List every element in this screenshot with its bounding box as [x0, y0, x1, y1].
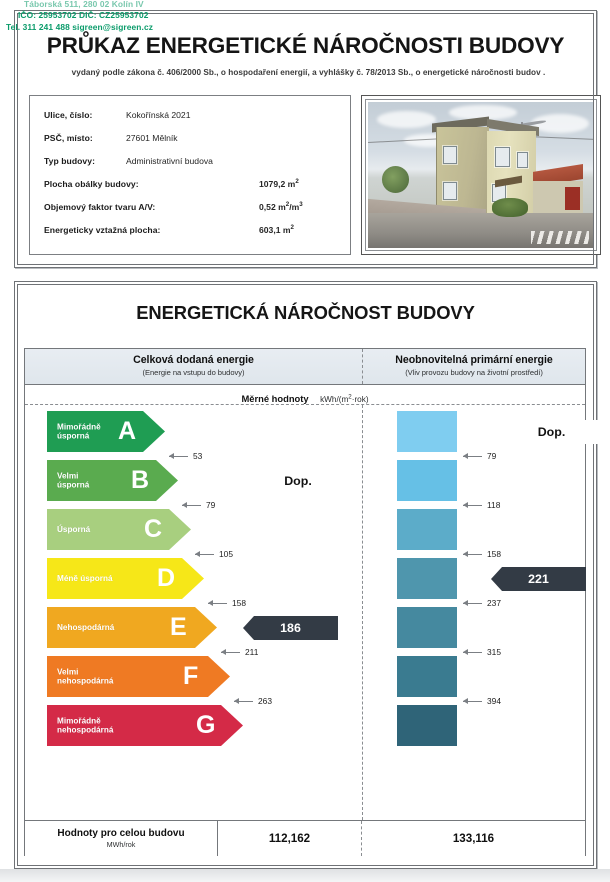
energy-class-label: Mimořádně úsporná: [57, 422, 101, 441]
totals-label: Hodnoty pro celou budovu: [57, 828, 184, 839]
value-badge-primary-text: 221: [528, 572, 549, 586]
building-info-table: Ulice, číslo:Kokořínská 2021PSČ, místo:2…: [29, 95, 351, 255]
energy-class-letter: E: [170, 615, 187, 640]
energy-class-f: Velmi nehospodárnáF: [47, 656, 230, 697]
energy-class-e: NehospodárnáE: [47, 607, 217, 648]
building-info-row: PSČ, místo:27601 Mělník: [44, 133, 93, 147]
class-threshold-value: 263: [258, 696, 272, 706]
building-info-value: 0,52 m2/m3: [259, 202, 303, 212]
column-title: Neobnovitelná primární energie: [363, 354, 585, 366]
page-bottom-edge: [0, 869, 610, 882]
totals-primary-cell: 133,116: [362, 821, 585, 856]
arrow-left-icon: [463, 652, 482, 653]
primary-energy-block-6: [397, 656, 457, 697]
class-threshold-value: 79: [206, 500, 215, 510]
units-label: Měrné hodnoty: [241, 393, 308, 404]
block-threshold-value: 118: [487, 500, 500, 510]
whole-building-totals-row: Hodnoty pro celou budovu MWh/rok 112,162…: [25, 820, 585, 856]
building-info-row: Energeticky vztažná plocha:603,1 m2: [44, 225, 160, 239]
building-info-label: PSČ, místo:: [44, 133, 93, 143]
class-threshold-a: 53: [169, 450, 202, 462]
energy-class-a: Mimořádně úspornáA: [47, 411, 165, 452]
class-threshold-value: 211: [245, 647, 258, 657]
recommended-badge-primary-text: Dop.: [538, 425, 566, 439]
totals-delivered-cell: 112,162: [218, 821, 362, 856]
energy-class-c: ÚspornáC: [47, 509, 191, 550]
totals-unit: MWh/rok: [107, 840, 136, 849]
column-subtitle: (Energie na vstupu do budovy): [25, 368, 362, 377]
building-photo: [368, 102, 594, 248]
block-threshold-value: 158: [487, 549, 501, 559]
value-badge-delivered: 186: [243, 616, 338, 640]
energy-class-label: Méně úsporná: [57, 574, 113, 584]
energy-class-label: Mimořádně nehospodárná: [57, 716, 113, 735]
building-info-label: Energeticky vztažná plocha:: [44, 225, 160, 235]
value-badge-primary: 221: [491, 567, 586, 591]
page-title: PRŮKAZ ENERGETICKÉ NÁROČNOSTI BUDOVY: [15, 33, 596, 59]
class-threshold-f: 263: [234, 695, 272, 707]
building-info-value: 603,1 m2: [259, 225, 294, 235]
energy-class-letter: D: [157, 566, 175, 591]
building-info-value: 27601 Mělník: [126, 133, 178, 143]
arrow-left-icon: [463, 701, 482, 702]
column-header-primary-energy: Neobnovitelná primární energie (Vliv pro…: [362, 349, 585, 384]
totals-primary-value: 133,116: [453, 832, 494, 845]
building-info-value: Administrativní budova: [126, 156, 213, 166]
column-title: Celková dodaná energie: [25, 354, 362, 366]
energy-class-letter: B: [131, 468, 149, 493]
energy-class-label: Velmi úsporná: [57, 471, 89, 490]
class-threshold-d: 158: [208, 597, 246, 609]
energy-scale-table: Celková dodaná energie (Energie na vstup…: [24, 348, 586, 856]
section-title: ENERGETICKÁ NÁROČNOST BUDOVY: [14, 302, 597, 324]
units-row: Měrné hodnoty kWh/(m2·rok): [25, 385, 585, 405]
block-threshold-2: 118: [463, 499, 500, 511]
stamp-address: Táborská 511, 280 02 Kolín IV: [24, 0, 256, 10]
class-threshold-value: 105: [219, 549, 233, 559]
arrow-left-icon: [195, 554, 214, 555]
page-subtitle: vydaný podle zákona č. 406/2000 Sb., o h…: [31, 68, 586, 77]
recommended-badge-delivered-text: Dop.: [284, 474, 312, 488]
arrow-left-icon: [463, 554, 482, 555]
energy-class-b: Velmi úspornáB: [47, 460, 178, 501]
class-threshold-value: 53: [193, 451, 202, 461]
block-threshold-value: 237: [487, 598, 501, 608]
energy-columns-header: Celková dodaná energie (Energie na vstup…: [25, 349, 585, 385]
energy-class-letter: A: [118, 419, 136, 444]
arrow-left-icon: [234, 701, 253, 702]
building-info-label: Plocha obálky budovy:: [44, 179, 139, 189]
energy-class-g: Mimořádně nehospodárnáG: [47, 705, 243, 746]
column-subtitle: (Vliv provozu budovy na životní prostřed…: [363, 368, 585, 377]
building-photo-frame: [361, 95, 601, 255]
energy-class-letter: F: [183, 664, 198, 689]
arrow-left-icon: [208, 603, 227, 604]
building-info-row: Objemový faktor tvaru A/V:0,52 m2/m3: [44, 202, 155, 216]
column-divider: [362, 405, 363, 820]
primary-energy-block-2: [397, 460, 457, 501]
energy-class-label: Nehospodárná: [57, 623, 114, 633]
energy-scale-chart: Mimořádně úspornáA53Velmi úspornáB79Úspo…: [25, 405, 585, 820]
building-info-row: Typ budovy:Administrativní budova: [44, 156, 95, 170]
block-threshold-5: 315: [463, 646, 501, 658]
totals-delivered-value: 112,162: [269, 832, 310, 845]
primary-energy-block-3: [397, 509, 457, 550]
primary-energy-block-1: [397, 411, 457, 452]
primary-energy-block-5: [397, 607, 457, 648]
building-info-row: Ulice, číslo:Kokořínská 2021: [44, 110, 92, 124]
column-header-delivered-energy: Celková dodaná energie (Energie na vstup…: [25, 349, 362, 384]
energy-class-letter: G: [196, 713, 215, 738]
building-info-row: Plocha obálky budovy:1079,2 m2: [44, 179, 139, 193]
block-threshold-value: 315: [487, 647, 501, 657]
arrow-left-icon: [463, 603, 482, 604]
energy-class-letter: C: [144, 517, 162, 542]
class-threshold-c: 105: [195, 548, 233, 560]
class-threshold-value: 158: [232, 598, 246, 608]
class-threshold-e: 211: [221, 646, 258, 658]
block-threshold-6: 394: [463, 695, 501, 707]
block-threshold-value: 394: [487, 696, 501, 706]
block-threshold-4: 237: [463, 597, 501, 609]
building-info-value: 1079,2 m2: [259, 179, 299, 189]
class-threshold-b: 79: [182, 499, 215, 511]
arrow-left-icon: [463, 456, 482, 457]
energy-class-label: Velmi nehospodárná: [57, 667, 113, 686]
certificate-header-panel: PRŮKAZ ENERGETICKÉ NÁROČNOSTI BUDOVY vyd…: [14, 10, 597, 268]
arrow-left-icon: [182, 505, 201, 506]
block-threshold-1: 79: [463, 450, 496, 462]
arrow-left-icon: [169, 456, 188, 457]
recommended-badge-primary: Dop.: [504, 420, 599, 444]
block-threshold-value: 79: [487, 451, 496, 461]
building-info-label: Objemový faktor tvaru A/V:: [44, 202, 155, 212]
primary-energy-block-7: [397, 705, 457, 746]
recommended-badge-delivered: Dop.: [253, 469, 343, 493]
building-info-value: Kokořínská 2021: [126, 110, 191, 120]
building-info-label: Ulice, číslo:: [44, 110, 92, 120]
energy-class-d: Méně úspornáD: [47, 558, 204, 599]
totals-label-cell: Hodnoty pro celou budovu MWh/rok: [25, 821, 218, 856]
arrow-left-icon: [463, 505, 482, 506]
value-badge-delivered-text: 186: [280, 621, 301, 635]
building-info-label: Typ budovy:: [44, 156, 95, 166]
arrow-left-icon: [221, 652, 240, 653]
units-value: kWh/(m2·rok): [320, 395, 368, 404]
block-threshold-3: 158: [463, 548, 501, 560]
primary-energy-block-4: [397, 558, 457, 599]
energy-class-label: Úsporná: [57, 525, 90, 535]
